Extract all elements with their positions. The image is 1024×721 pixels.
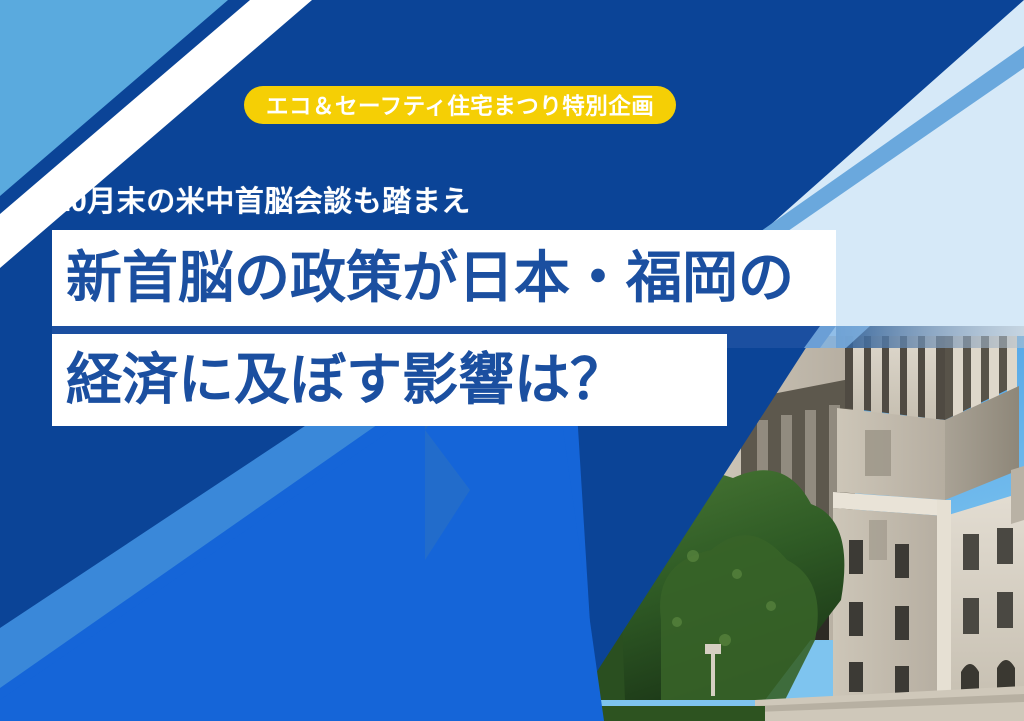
campaign-badge: エコ＆セーフティ住宅まつり特別企画 <box>244 86 676 124</box>
headline-block-2: 経済に及ぼす影響は？ <box>52 334 727 426</box>
kicker-text: 10月末の米中首脳会談も踏まえ <box>54 178 471 220</box>
campaign-badge-label: エコ＆セーフティ住宅まつり特別企画 <box>266 89 654 121</box>
headline-line-2: 経済に及ぼす影響は？ <box>66 352 626 408</box>
headline-block-1: 新首脳の政策が日本・福岡の <box>52 230 836 326</box>
banner-canvas: エコ＆セーフティ住宅まつり特別企画 10月末の米中首脳会談も踏まえ 新首脳の政策… <box>0 0 1024 721</box>
headline-line-1: 新首脳の政策が日本・福岡の <box>66 250 794 306</box>
